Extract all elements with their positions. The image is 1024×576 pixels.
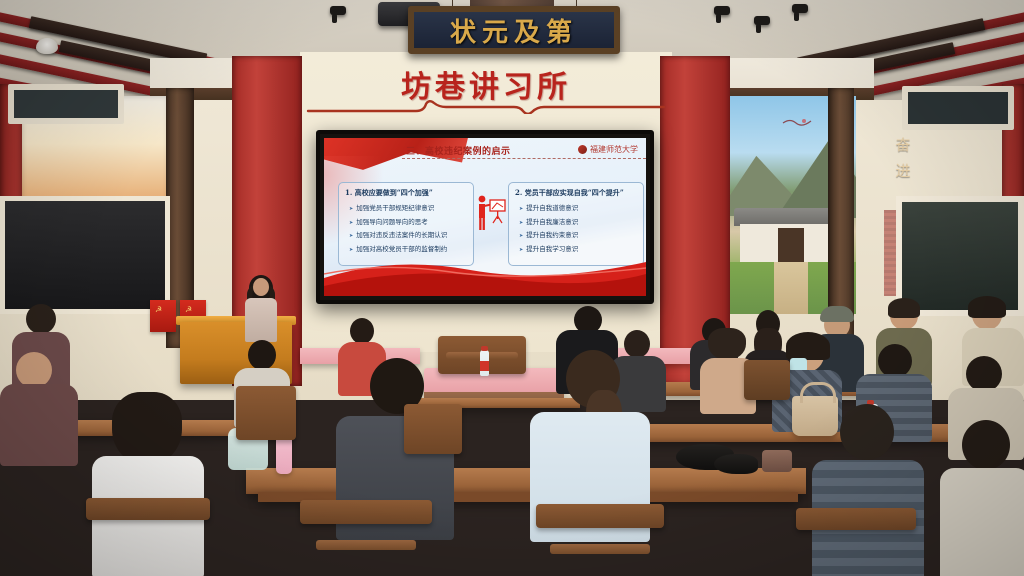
chair-slat	[316, 540, 416, 550]
speaker	[243, 278, 279, 342]
bottle-cap	[481, 346, 488, 351]
slide-org-name: 福建师范大学	[590, 144, 638, 155]
slide: 三、高校违纪案例的启示 福建师范大学 1. 高校应要做到“四个加强” 加强党员干…	[324, 138, 646, 296]
audience-person-foreground	[812, 404, 924, 576]
slide-left-item: 加强导向问题导向的思考	[349, 216, 467, 226]
person-hair	[968, 296, 1006, 318]
chair	[536, 504, 664, 528]
wallet	[762, 450, 792, 472]
speaker-body	[245, 298, 277, 342]
person-body	[0, 384, 78, 466]
slide-org-logo: 福建师范大学	[578, 144, 638, 155]
person-head	[878, 344, 912, 378]
flag-emblem-icon: ☭	[185, 305, 194, 314]
water-bottle	[480, 350, 489, 376]
presentation-screen[interactable]: 三、高校违纪案例的启示 福建师范大学 1. 高校应要做到“四个加强” 加强党员干…	[316, 130, 654, 304]
right-wall-display	[896, 196, 1024, 316]
pillar-vertical-text: 奋进	[890, 132, 918, 184]
chair	[404, 404, 462, 454]
slide-divider	[402, 158, 646, 159]
security-camera-icon	[36, 38, 58, 54]
spotlight-icon	[754, 16, 770, 25]
university-seal-icon	[578, 145, 587, 154]
mural-house-door	[778, 228, 804, 262]
spotlight-icon	[714, 6, 730, 15]
person-hair	[786, 332, 830, 360]
black-umbrella	[714, 454, 758, 474]
mural-path	[774, 262, 808, 314]
audience-person-foreground	[92, 392, 204, 576]
chair	[300, 500, 432, 524]
kite-icon	[782, 118, 812, 128]
decorative-scroll	[306, 100, 666, 114]
audience-person	[0, 352, 78, 462]
plaque-text: 状元及第	[450, 12, 578, 49]
slide-right-heading: 2. 党员干部应实现自我“四个提升”	[515, 188, 637, 198]
person-head	[962, 420, 1010, 470]
person-head	[248, 340, 276, 370]
left-upper-window	[8, 84, 124, 124]
person-head	[350, 318, 374, 344]
slide-right-item: 提升自我约束意识	[519, 229, 637, 239]
person-body	[940, 468, 1024, 576]
person-hair	[888, 298, 920, 318]
flag-emblem-icon: ☭	[155, 305, 164, 314]
presenter-whiteboard-icon	[476, 194, 506, 238]
speaker-head	[253, 278, 269, 296]
spotlight-icon	[330, 6, 346, 15]
bottle-label	[480, 361, 489, 371]
slide-left-item: 加强对违反违法案件的长期认识	[349, 229, 467, 239]
slide-left-item: 加强党员干部规矩纪律意识	[349, 202, 467, 212]
cap-icon	[820, 306, 854, 322]
chair-slat	[550, 544, 650, 554]
right-upper-window	[902, 86, 1014, 130]
slide-right-item: 提升自我道德意识	[519, 202, 637, 212]
calligraphy-plaque: 状元及第	[408, 6, 620, 54]
person-head	[16, 352, 52, 388]
person-hair	[112, 392, 182, 466]
chair	[796, 508, 916, 530]
slide-left-heading: 1. 高校应要做到“四个加强”	[345, 188, 467, 198]
spotlight-icon	[792, 4, 808, 13]
person-hair	[708, 328, 746, 360]
audience-person-foreground	[940, 420, 1024, 576]
slide-right-item: 提升自我廉洁意识	[519, 216, 637, 226]
slide-title: 三、高校违纪案例的启示	[406, 144, 606, 157]
chair	[86, 498, 210, 520]
person-head	[966, 356, 1002, 392]
chair	[744, 360, 790, 400]
person-head	[840, 404, 894, 460]
person-head	[26, 304, 56, 334]
chair	[236, 386, 296, 440]
slide-wave-graphic	[324, 244, 646, 296]
lecture-hall-photo: 奋进 状元及第 坊巷讲习所 三、高校违纪案例的启示 福建师范大学 1. 高校应要…	[0, 0, 1024, 576]
left-wall-display	[0, 196, 170, 314]
party-flag: ☭	[150, 300, 176, 332]
